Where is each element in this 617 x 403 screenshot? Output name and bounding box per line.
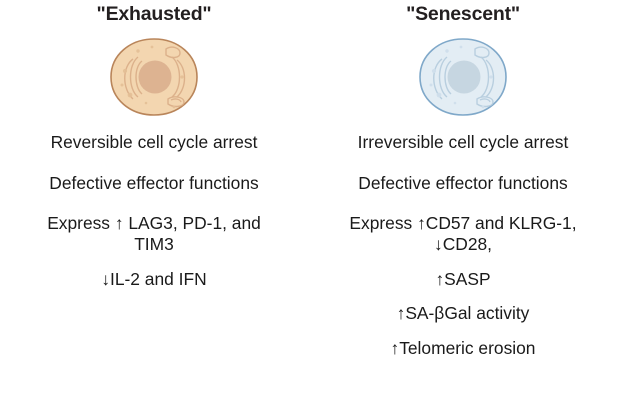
fact-item: ↑SASP [309, 269, 617, 290]
comparison-figure: "Exhausted" [0, 0, 617, 403]
column-senescent: "Senescent" [309, 0, 617, 403]
fact-item: Express ↑ LAG3, PD-1, and TIM3 [0, 213, 308, 255]
fact-item: Reversible cell cycle arrest [0, 132, 308, 153]
fact-item: ↑Telomeric erosion [309, 338, 617, 359]
fact-item: ↑SA-βGal activity [309, 303, 617, 324]
fact-list-senescent: Irreversible cell cycle arrest Defective… [309, 132, 617, 359]
column-title-exhausted: "Exhausted" [0, 3, 308, 25]
fact-item: Defective effector functions [309, 173, 617, 194]
fact-item: Defective effector functions [0, 173, 308, 194]
exhausted-cell-icon [0, 34, 308, 120]
column-title-senescent: "Senescent" [309, 3, 617, 25]
column-exhausted: "Exhausted" [0, 0, 308, 403]
fact-item: Irreversible cell cycle arrest [309, 132, 617, 153]
senescent-cell-icon [309, 34, 617, 120]
fact-list-exhausted: Reversible cell cycle arrest Defective e… [0, 132, 308, 290]
fact-item: ↓IL-2 and IFN [0, 269, 308, 290]
fact-item: Express ↑CD57 and KLRG-1, ↓CD28, [309, 213, 617, 255]
